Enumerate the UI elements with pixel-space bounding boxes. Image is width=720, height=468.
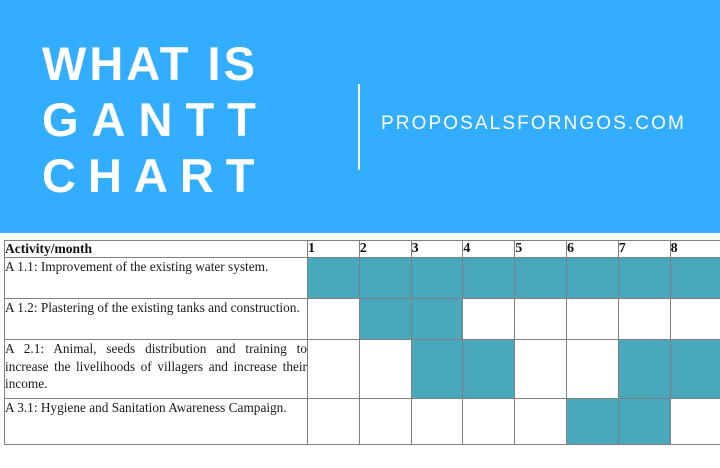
column-header-month-3: 3 xyxy=(411,241,463,258)
gantt-table-body: A 1.1: Improvement of the existing water… xyxy=(5,258,720,445)
column-header-activity: Activity/month xyxy=(5,241,308,258)
column-header-month-2: 2 xyxy=(359,241,411,258)
gantt-cell-r1-m2 xyxy=(359,258,411,299)
gantt-cell-r4-m8 xyxy=(670,399,720,445)
gantt-cell-r4-m6 xyxy=(566,399,618,445)
column-header-month-6: 6 xyxy=(566,241,618,258)
gantt-cell-r1-m6 xyxy=(566,258,618,299)
table-row: A 2.1: Animal, seeds distribution and tr… xyxy=(5,340,720,399)
gantt-cell-r3-m7 xyxy=(618,340,670,399)
gantt-cell-r3-m3 xyxy=(411,340,463,399)
gantt-cell-r3-m2 xyxy=(359,340,411,399)
gantt-cell-r1-m1 xyxy=(308,258,360,299)
column-header-month-8: 8 xyxy=(670,241,720,258)
table-row: A 1.1: Improvement of the existing water… xyxy=(5,258,720,299)
gantt-cell-r3-m6 xyxy=(566,340,618,399)
activity-label: A 1.1: Improvement of the existing water… xyxy=(5,258,308,299)
gantt-cell-r4-m5 xyxy=(515,399,567,445)
gantt-cell-r4-m2 xyxy=(359,399,411,445)
gantt-cell-r2-m4 xyxy=(463,299,515,340)
gantt-cell-r4-m4 xyxy=(463,399,515,445)
gantt-cell-r2-m6 xyxy=(566,299,618,340)
gantt-cell-r2-m8 xyxy=(670,299,720,340)
gantt-cell-r4-m1 xyxy=(308,399,360,445)
table-header-row: Activity/month 1 2 3 4 5 6 7 8 xyxy=(5,241,720,258)
gantt-cell-r1-m3 xyxy=(411,258,463,299)
gantt-cell-r2-m1 xyxy=(308,299,360,340)
page-title: WHAT IS GANTT CHART xyxy=(42,36,342,204)
column-header-month-7: 7 xyxy=(618,241,670,258)
gantt-cell-r1-m4 xyxy=(463,258,515,299)
gantt-cell-r1-m8 xyxy=(670,258,720,299)
gantt-cell-r4-m3 xyxy=(411,399,463,445)
banner-divider xyxy=(358,84,360,170)
page-root: WHAT IS GANTT CHART PROPOSALSFORNGOS.COM… xyxy=(0,0,720,468)
gantt-cell-r3-m5 xyxy=(515,340,567,399)
gantt-cell-r2-m5 xyxy=(515,299,567,340)
gantt-table-head: Activity/month 1 2 3 4 5 6 7 8 xyxy=(5,241,720,258)
page-title-line-3: CHART xyxy=(42,148,342,204)
gantt-cell-r2-m3 xyxy=(411,299,463,340)
page-title-line-2: GANTT xyxy=(42,92,342,148)
page-title-line-1: WHAT IS xyxy=(42,36,342,92)
column-header-month-4: 4 xyxy=(463,241,515,258)
gantt-cell-r4-m7 xyxy=(618,399,670,445)
header-banner: WHAT IS GANTT CHART PROPOSALSFORNGOS.COM xyxy=(0,0,720,233)
column-header-month-5: 5 xyxy=(515,241,567,258)
gantt-cell-r1-m5 xyxy=(515,258,567,299)
site-url-label: PROPOSALSFORNGOS.COM xyxy=(381,113,686,135)
gantt-cell-r3-m8 xyxy=(670,340,720,399)
gantt-cell-r1-m7 xyxy=(618,258,670,299)
gantt-cell-r2-m7 xyxy=(618,299,670,340)
gantt-cell-r2-m2 xyxy=(359,299,411,340)
gantt-cell-r3-m4 xyxy=(463,340,515,399)
gantt-table: Activity/month 1 2 3 4 5 6 7 8 A 1.1: Im… xyxy=(4,240,720,445)
gantt-cell-r3-m1 xyxy=(308,340,360,399)
activity-label: A 3.1: Hygiene and Sanitation Awareness … xyxy=(5,399,308,445)
table-row: A 1.2: Plastering of the existing tanks … xyxy=(5,299,720,340)
column-header-month-1: 1 xyxy=(308,241,360,258)
table-row: A 3.1: Hygiene and Sanitation Awareness … xyxy=(5,399,720,445)
gantt-table-container: Activity/month 1 2 3 4 5 6 7 8 A 1.1: Im… xyxy=(4,240,714,445)
activity-label: A 1.2: Plastering of the existing tanks … xyxy=(5,299,308,340)
activity-label: A 2.1: Animal, seeds distribution and tr… xyxy=(5,340,308,399)
